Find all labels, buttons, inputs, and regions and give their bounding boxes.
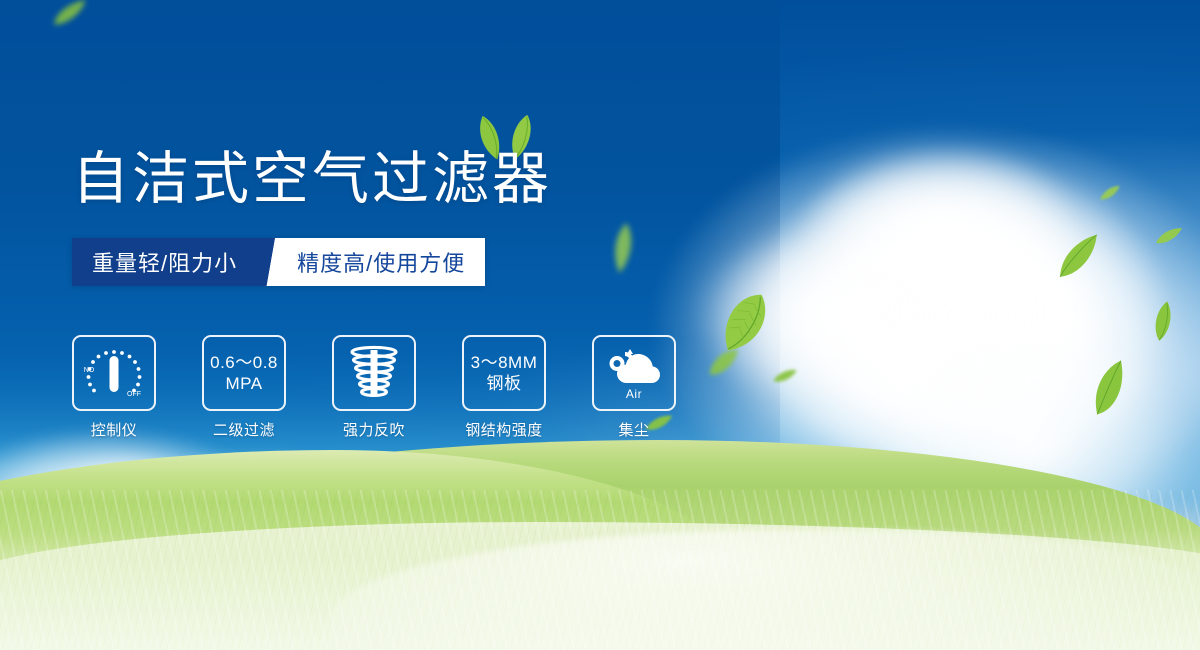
pressure-value-line1: 0.6～0.8 xyxy=(210,352,278,373)
steel-value-line2: 钢板 xyxy=(487,373,522,394)
subtitle-bar: 重量轻/阻力小 精度高/使用方便 xyxy=(72,238,485,286)
feature-label-blowback: 强力反吹 xyxy=(343,419,405,440)
feature-box-dust: Air xyxy=(592,335,676,411)
feature-box-steel: 3～8MM 钢板 xyxy=(462,335,546,411)
feature-box-blowback xyxy=(332,335,416,411)
feature-label-pressure: 二级过滤 xyxy=(213,419,275,440)
grass-field xyxy=(0,440,1200,650)
control-dial-icon: NO OFF xyxy=(82,344,146,402)
pressure-value-line2: MPA xyxy=(225,373,262,394)
feature-item-control[interactable]: NO OFF 控制仪 xyxy=(72,335,156,440)
subtitle-left: 重量轻/阻力小 xyxy=(72,238,259,286)
air-cloud-icon xyxy=(603,346,665,386)
feature-label-control: 控制仪 xyxy=(91,419,138,440)
subtitle-right: 精度高/使用方便 xyxy=(285,238,485,286)
dial-on-label: NO xyxy=(84,367,95,374)
feature-item-pressure[interactable]: 0.6～0.8 MPA 二级过滤 xyxy=(202,335,286,440)
feature-box-control: NO OFF xyxy=(72,335,156,411)
dial-off-label: OFF xyxy=(127,391,141,398)
feature-item-steel[interactable]: 3～8MM 钢板 钢结构强度 xyxy=(462,335,546,440)
feature-label-steel: 钢结构强度 xyxy=(465,419,543,440)
air-label: Air xyxy=(626,387,642,401)
feature-label-dust: 集尘 xyxy=(618,419,649,440)
subtitle-wedge-divider xyxy=(259,238,285,286)
grass-bottom-glow xyxy=(0,530,1200,650)
banner-root: 自洁式空气过滤器 重量轻/阻力小 精度高/使用方便 xyxy=(0,0,1200,650)
feature-item-dust[interactable]: Air 集尘 xyxy=(592,335,676,440)
page-title: 自洁式空气过滤器 xyxy=(72,145,552,213)
feature-item-blowback[interactable]: 强力反吹 xyxy=(332,335,416,440)
feature-box-pressure: 0.6～0.8 MPA xyxy=(202,335,286,411)
steel-value-line1: 3～8MM xyxy=(471,352,538,373)
feature-list: NO OFF 控制仪 0.6～0.8 MPA 二级过滤 xyxy=(72,335,676,440)
filter-coil-icon xyxy=(346,344,402,402)
